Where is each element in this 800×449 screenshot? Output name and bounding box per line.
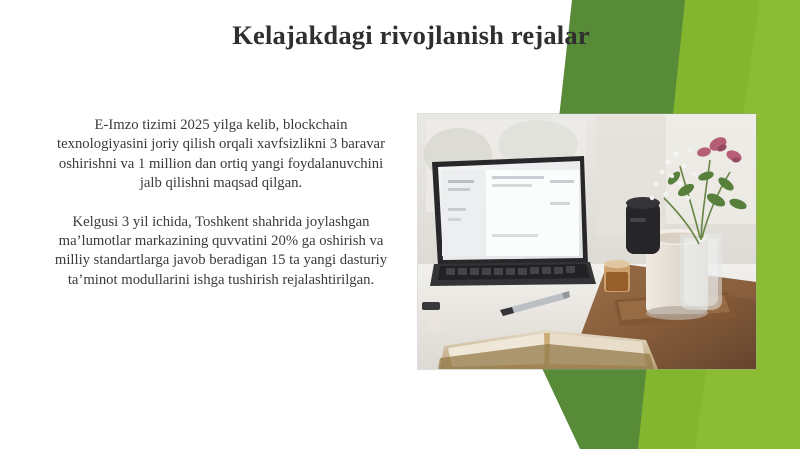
desk-workspace-photo bbox=[418, 114, 756, 369]
slide-title: Kelajakdagi rivojlanish rejalar bbox=[0, 20, 800, 51]
paragraph-2: Kelgusi 3 yil ichida, Toshkent shahrida … bbox=[48, 213, 394, 291]
white-wedge-bottom-center bbox=[510, 360, 568, 449]
slide-body-text: E-Imzo tizimi 2025 yilga kelib, blockcha… bbox=[48, 116, 394, 290]
presentation-slide: Kelajakdagi rivojlanish rejalar E-Imzo t… bbox=[0, 0, 800, 449]
paragraph-1: E-Imzo tizimi 2025 yilga kelib, blockcha… bbox=[48, 116, 394, 194]
